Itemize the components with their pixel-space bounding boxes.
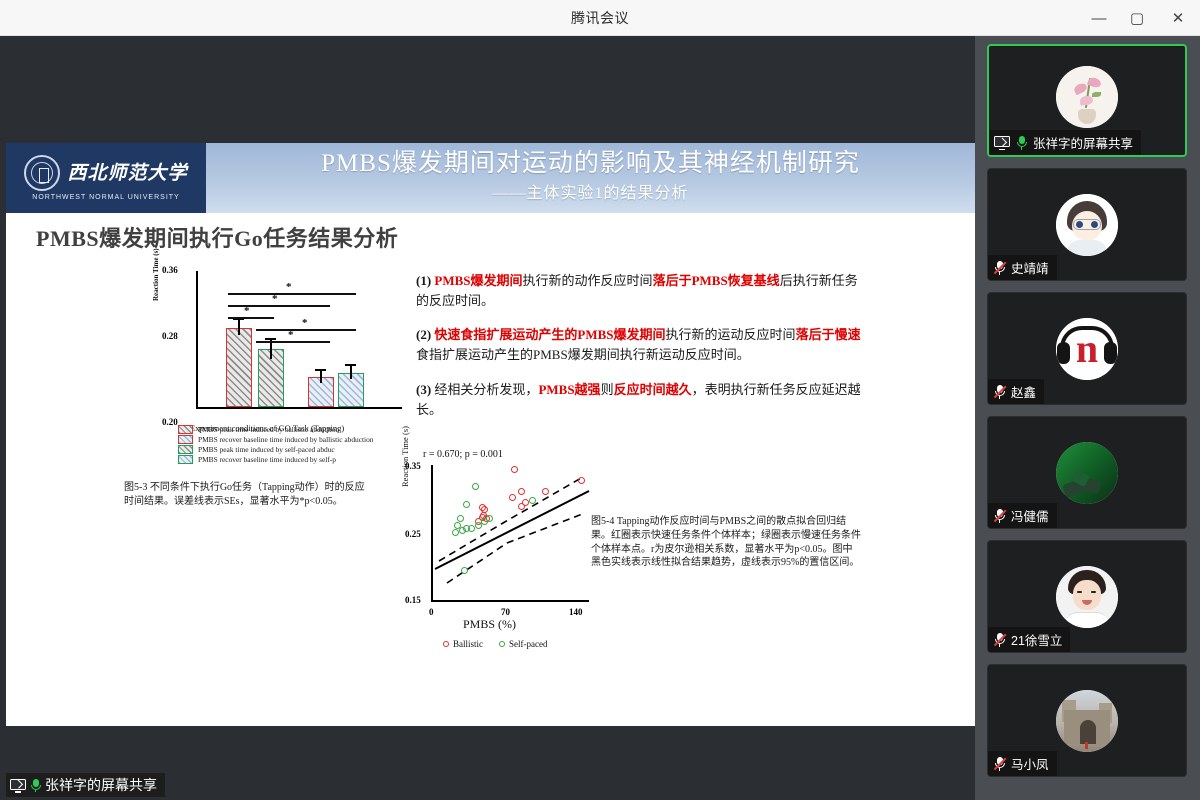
scatter-point-ballistic bbox=[518, 488, 525, 495]
significance-star: * bbox=[244, 305, 250, 317]
bar-chart-ylabel: Reaction Time (s) bbox=[152, 248, 160, 301]
scatter-ytick-mid: 0.25 bbox=[405, 529, 421, 539]
scatter-chart: r = 0.670; p = 0.001 Reaction Time (s) 0… bbox=[401, 449, 601, 664]
participant-name-pill: 马小凤 bbox=[988, 751, 1057, 776]
shared-screen-stage[interactable]: 西北师范大学 NORTHWEST NORMAL UNIVERSITY PMBS爆… bbox=[0, 36, 975, 800]
screen-share-icon bbox=[994, 136, 1010, 149]
finding-number: (1) bbox=[416, 273, 434, 288]
screen-share-icon bbox=[10, 779, 26, 792]
avatar bbox=[1056, 66, 1118, 128]
meeting-body: 西北师范大学 NORTHWEST NORMAL UNIVERSITY PMBS爆… bbox=[0, 36, 1200, 800]
circle-icon bbox=[443, 641, 449, 647]
significance-star: * bbox=[272, 293, 278, 305]
participant-tile-5[interactable]: 21徐雪立 bbox=[987, 540, 1187, 653]
scatter-point-self-paced bbox=[463, 501, 470, 508]
figure-5-3-caption: 图5-3 不同条件下执行Go任务（Tapping动作）时的反应时间结果。误差线表… bbox=[124, 481, 374, 509]
bar-chart-ytick-top: 0.36 bbox=[162, 265, 178, 275]
finding-text-segment: PMBS越强 bbox=[538, 382, 600, 397]
participant-tile-4[interactable]: 冯健儒 bbox=[987, 416, 1187, 529]
scatter-xtick-0: 0 bbox=[429, 607, 434, 617]
participant-name: 史靖靖 bbox=[1011, 258, 1049, 277]
tencent-meeting-window: 腾讯会议 — ▢ ✕ 西北师范大学 NORTHWEST NORMAL UNIVE… bbox=[0, 0, 1200, 800]
finding-item-2: (2) 快速食指扩展运动产生的PMBS爆发期间执行新的运动反应时间落后于慢速食指… bbox=[416, 325, 861, 365]
error-cap bbox=[345, 364, 356, 366]
slide-title-block: PMBS爆发期间对运动的影响及其神经机制研究 ——主体实验1的结果分析 bbox=[206, 143, 975, 213]
findings-list: (1) PMBS爆发期间执行新的动作反应时间落后于PMBS恢复基线后执行新任务的… bbox=[416, 271, 861, 434]
microphone-muted-icon[interactable] bbox=[993, 260, 1006, 275]
error-bar bbox=[270, 340, 272, 359]
participant-name-pill: 史靖靖 bbox=[988, 255, 1057, 280]
university-logo: 西北师范大学 NORTHWEST NORMAL UNIVERSITY bbox=[6, 143, 206, 213]
scatter-point-self-paced bbox=[486, 515, 493, 522]
bar-legend-item-4: PMBS recover baseline time induced by se… bbox=[178, 455, 418, 464]
microphone-muted-icon[interactable] bbox=[993, 508, 1006, 523]
significance-star: * bbox=[286, 281, 292, 293]
bar-legend-item-2: PMBS recover baseline time induced by ba… bbox=[178, 435, 418, 444]
error-bar bbox=[238, 320, 240, 336]
university-name-cn: 西北师范大学 bbox=[67, 164, 187, 183]
finding-text-segment: PMBS爆发期间 bbox=[434, 273, 522, 288]
legend-label: PMBS peak time induced by self-paced abd… bbox=[198, 445, 335, 454]
legend-swatch bbox=[178, 435, 193, 444]
participant-name-pill: 赵鑫 bbox=[988, 379, 1044, 404]
avatar: n bbox=[1056, 318, 1118, 380]
finding-number: (2) bbox=[416, 327, 434, 342]
slide-header: 西北师范大学 NORTHWEST NORMAL UNIVERSITY PMBS爆… bbox=[6, 143, 975, 213]
error-cap bbox=[265, 338, 276, 340]
participant-tile-1[interactable]: 张祥字的屏幕共享 bbox=[987, 44, 1187, 157]
bar-chart-bars bbox=[198, 271, 402, 407]
scatter-point-self-paced bbox=[457, 515, 464, 522]
university-name-en: NORTHWEST NORMAL UNIVERSITY bbox=[32, 194, 179, 201]
avatar bbox=[1056, 690, 1118, 752]
significance-star: * bbox=[302, 317, 308, 329]
participant-name-pill: 张祥字的屏幕共享 bbox=[989, 130, 1141, 155]
window-controls: — ▢ ✕ bbox=[1080, 0, 1200, 36]
scatter-point-self-paced bbox=[529, 497, 536, 504]
legend-label: Ballistic bbox=[453, 639, 483, 649]
scatter-xtick-1: 70 bbox=[501, 607, 510, 617]
scatter-correlation-label: r = 0.670; p = 0.001 bbox=[423, 449, 503, 460]
slide-main-title: PMBS爆发期间对运动的影响及其神经机制研究 bbox=[321, 151, 860, 177]
legend-item-ballistic: Ballistic bbox=[443, 639, 483, 649]
finding-item-3: (3) 经相关分析发现，PMBS越强则反应时间越久，表明执行新任务反应延迟越长。 bbox=[416, 380, 861, 420]
scatter-point-ballistic bbox=[509, 494, 516, 501]
microphone-muted-icon[interactable] bbox=[993, 384, 1006, 399]
close-icon[interactable]: ✕ bbox=[1156, 0, 1200, 36]
microphone-muted-icon[interactable] bbox=[993, 632, 1006, 647]
scatter-point-self-paced bbox=[459, 527, 466, 534]
participants-rail[interactable]: 张祥字的屏幕共享史靖靖n赵鑫冯健儒21徐雪立马小凤 bbox=[975, 36, 1200, 800]
finding-number: (3) bbox=[416, 382, 434, 397]
university-seal-icon bbox=[24, 155, 60, 191]
finding-item-1: (1) PMBS爆发期间执行新的动作反应时间落后于PMBS恢复基线后执行新任务的… bbox=[416, 271, 861, 311]
error-bar bbox=[320, 371, 322, 383]
significance-line bbox=[256, 341, 330, 343]
bar-chart-legend: PMBS peak time induced by ballistic abdu… bbox=[178, 425, 418, 465]
avatar bbox=[1056, 194, 1118, 256]
participant-tile-2[interactable]: 史靖靖 bbox=[987, 168, 1187, 281]
error-cap bbox=[315, 369, 326, 371]
finding-text-segment: 执行新的运动反应时间 bbox=[666, 327, 796, 342]
scatter-point-self-paced bbox=[468, 525, 475, 532]
scatter-point-ballistic bbox=[542, 488, 549, 495]
slide-content: Reaction Time (s) 0.36 0.28 0.20 * * bbox=[6, 253, 975, 726]
participant-name: 赵鑫 bbox=[1011, 382, 1036, 401]
microphone-muted-icon[interactable] bbox=[993, 756, 1006, 771]
participant-name-pill: 冯健儒 bbox=[988, 503, 1057, 528]
legend-label: Self-paced bbox=[509, 639, 547, 649]
bar-1 bbox=[226, 328, 252, 407]
scatter-point-ballistic bbox=[511, 466, 518, 473]
participant-name: 冯健儒 bbox=[1011, 506, 1049, 525]
scatter-point-self-paced bbox=[452, 529, 459, 536]
scatter-point-self-paced bbox=[475, 522, 482, 529]
participant-name-pill: 21徐雪立 bbox=[988, 627, 1070, 652]
scatter-legend: Ballistic Self-paced bbox=[443, 639, 547, 649]
minimize-icon[interactable]: — bbox=[1080, 0, 1118, 36]
slide-sub-title: ——主体实验1的结果分析 bbox=[492, 179, 688, 203]
significance-line bbox=[228, 317, 274, 319]
figure-5-4-caption: 图5-4 Tapping动作反应时间与PMBS之间的散点拟合回归结果。红圈表示快… bbox=[591, 515, 861, 570]
presentation-slide: 西北师范大学 NORTHWEST NORMAL UNIVERSITY PMBS爆… bbox=[6, 143, 975, 726]
finding-text-segment: 则 bbox=[601, 382, 614, 397]
significance-line bbox=[256, 329, 356, 331]
error-cap bbox=[233, 318, 244, 320]
bar-legend-item-3: PMBS peak time induced by self-paced abd… bbox=[178, 445, 418, 454]
scatter-xlabel: PMBS (%) bbox=[463, 617, 516, 632]
significance-line bbox=[228, 293, 356, 295]
bar-legend-item-1: PMBS peak time induced by ballistic abdu… bbox=[178, 425, 418, 434]
bar-chart-ytick-mid: 0.28 bbox=[162, 331, 178, 341]
legend-swatch bbox=[178, 445, 193, 454]
maximize-icon[interactable]: ▢ bbox=[1118, 0, 1156, 36]
screen-share-owner-label: 张祥字的屏幕共享 bbox=[45, 775, 157, 795]
legend-label: PMBS recover baseline time induced by ba… bbox=[198, 435, 374, 444]
avatar bbox=[1056, 442, 1118, 504]
circle-icon bbox=[499, 641, 505, 647]
participant-tile-3[interactable]: n赵鑫 bbox=[987, 292, 1187, 405]
bar-chart-plot-area: * * * * * bbox=[196, 271, 402, 409]
screen-share-status-bar: 张祥字的屏幕共享 bbox=[6, 773, 165, 797]
finding-text-segment: 落后于慢速 bbox=[796, 327, 861, 342]
participant-name: 马小凤 bbox=[1011, 754, 1049, 773]
scatter-point-ballistic bbox=[518, 503, 525, 510]
avatar bbox=[1056, 566, 1118, 628]
finding-text-segment: 快速食指扩展运动产生的PMBS爆发期间 bbox=[434, 327, 665, 342]
finding-text-segment: 经相关分析发现， bbox=[434, 382, 538, 397]
microphone-icon bbox=[29, 778, 42, 793]
legend-swatch bbox=[178, 455, 193, 464]
finding-text-segment: 食指扩展运动产生的PMBS爆发期间执行新运动反应时间。 bbox=[416, 347, 750, 362]
finding-text-segment: 落后于PMBS恢复基线 bbox=[653, 273, 780, 288]
scatter-ytick-bottom: 0.15 bbox=[405, 595, 421, 605]
microphone-icon[interactable] bbox=[1015, 135, 1028, 150]
participant-tile-6[interactable]: 马小凤 bbox=[987, 664, 1187, 777]
scatter-xtick-2: 140 bbox=[569, 607, 583, 617]
legend-swatch bbox=[178, 425, 193, 434]
slide-section-heading: PMBS爆发期间执行Go任务结果分析 bbox=[36, 221, 975, 253]
scatter-plot-area bbox=[431, 465, 589, 602]
significance-star: * bbox=[288, 329, 294, 341]
participant-name: 21徐雪立 bbox=[1011, 630, 1062, 649]
legend-label: PMBS peak time induced by ballistic abdu… bbox=[198, 425, 339, 434]
scatter-ylabel: Reaction Time (s) bbox=[400, 426, 410, 487]
participant-name: 张祥字的屏幕共享 bbox=[1033, 133, 1133, 152]
finding-text-segment: 反应时间越久 bbox=[614, 382, 692, 397]
bar-chart-ytick-bottom: 0.20 bbox=[162, 417, 178, 427]
legend-item-self-paced: Self-paced bbox=[499, 639, 547, 649]
finding-text-segment: 执行新的动作反应时间 bbox=[523, 273, 653, 288]
scatter-ytick-top: 0.35 bbox=[405, 461, 421, 471]
title-bar: 腾讯会议 — ▢ ✕ bbox=[0, 0, 1200, 36]
legend-label: PMBS recover baseline time induced by se… bbox=[198, 455, 336, 464]
window-title: 腾讯会议 bbox=[571, 8, 629, 28]
bar-chart: Reaction Time (s) 0.36 0.28 0.20 * * bbox=[156, 271, 406, 421]
error-bar bbox=[350, 366, 352, 380]
